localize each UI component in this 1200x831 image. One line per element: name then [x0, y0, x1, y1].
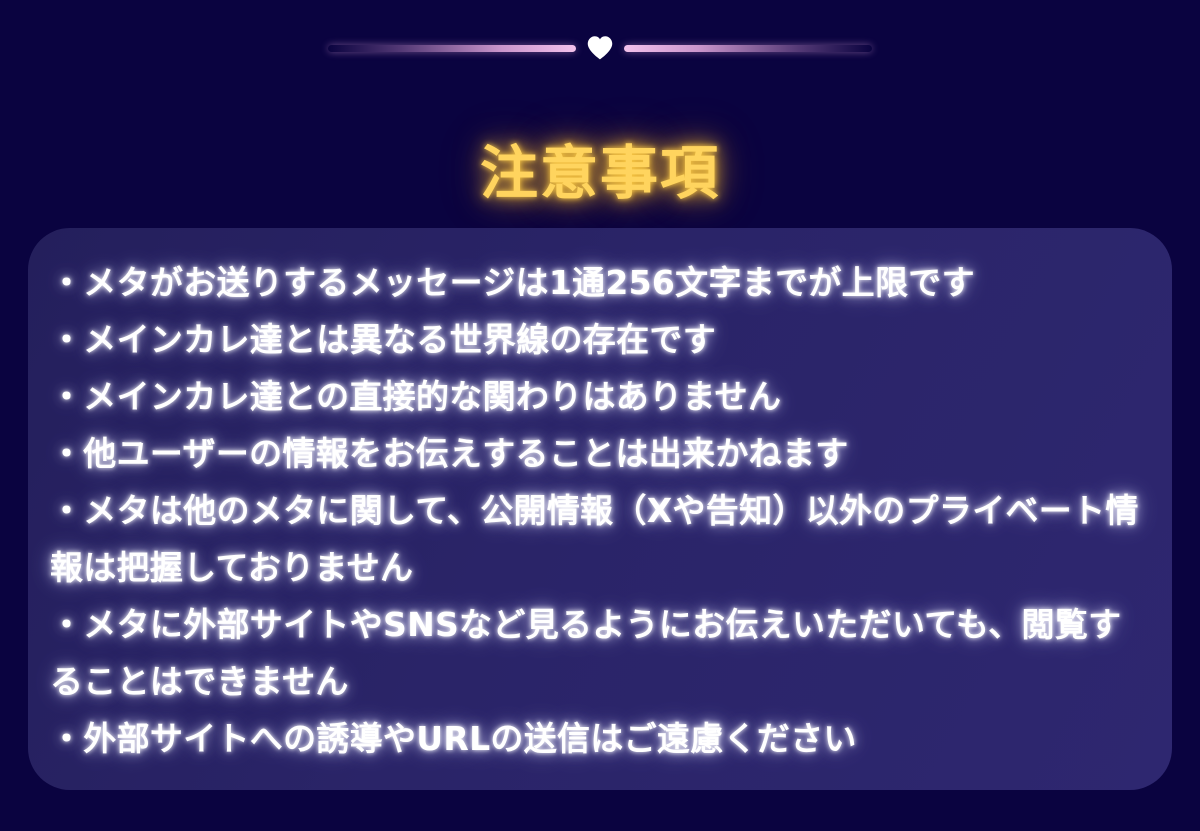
notice-text-block: ・メタがお送りするメッセージは1通256文字までが上限です ・メインカレ達とは異…: [50, 254, 1152, 767]
notice-line: ・他ユーザーの情報をお伝えすることは出来かねます: [50, 425, 1152, 482]
heart-icon: [586, 34, 614, 62]
notice-line: ・メインカレ達との直接的な関わりはありません: [50, 368, 1152, 425]
notice-line: ・メタは他のメタに関して、公開情報（Xや告知）以外のプライベート情報は把握してお…: [50, 482, 1152, 596]
notice-panel: ・メタがお送りするメッセージは1通256文字までが上限です ・メインカレ達とは異…: [28, 228, 1172, 790]
notice-line: ・メインカレ達とは異なる世界線の存在です: [50, 311, 1152, 368]
notice-line: ・外部サイトへの誘導やURLの送信はご遠慮ください: [50, 710, 1152, 767]
divider-line-left: [328, 45, 576, 52]
notice-line: ・メタがお送りするメッセージは1通256文字までが上限です: [50, 254, 1152, 311]
header-divider: [0, 0, 1200, 96]
divider-line-right: [624, 45, 872, 52]
page-title: 注意事項: [0, 142, 1200, 206]
notice-line: ・メタに外部サイトやSNSなど見るようにお伝えいただいても、閲覧することはできま…: [50, 596, 1152, 710]
